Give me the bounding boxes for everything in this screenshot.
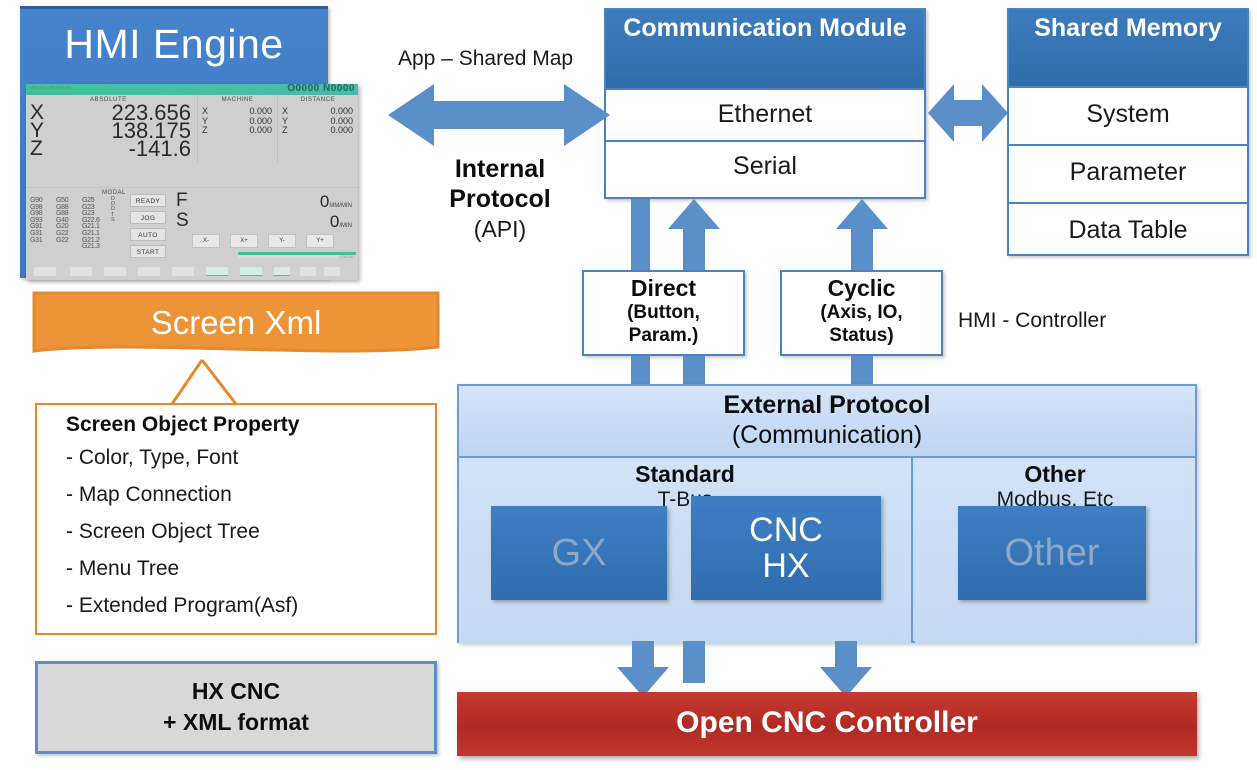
cnc-axis-letter: Z — [30, 140, 44, 158]
cnc-softkey-active[interactable] — [240, 267, 262, 276]
connector-arrow-direct-up — [668, 199, 720, 271]
cnc-distance-value: 0.000 — [330, 126, 353, 136]
mode-box-cyclic: Cyclic (Axis, IO, Status) — [780, 270, 943, 356]
comm-shared-memory-arrow — [928, 80, 1008, 146]
cnc-modal-code: G22 — [56, 238, 68, 245]
connector-bar-direct-lower — [631, 356, 650, 386]
cnc-mode-button-jog[interactable]: JOG — [130, 211, 166, 224]
label-internal-protocol: Internal Protocol (API) — [420, 154, 580, 244]
cnc-middle-divider — [26, 162, 358, 188]
cnc-modal-vertical-text: DDDTS — [111, 197, 115, 223]
cnc-mode-button-ready[interactable]: READY — [130, 194, 166, 207]
external-protocol-header: External Protocol (Communication) — [459, 386, 1195, 458]
cnc-softkey-active[interactable] — [274, 267, 290, 276]
cnc-mode-button-start[interactable]: START — [130, 245, 166, 258]
cnc-progress-caption: LOADING — [339, 255, 355, 259]
cnc-softkey[interactable] — [34, 267, 56, 276]
protocol-tile-gx[interactable]: GX — [491, 506, 667, 600]
mode-box-direct-title: Direct — [584, 275, 743, 301]
cnc-spindle-value: 0 — [330, 212, 339, 231]
cnc-lower-area: MODAL G90 G98 G98 G93 G91 G31 G31 G50 G8… — [26, 188, 358, 256]
cnc-absolute-axis-letters: X Y Z — [30, 104, 44, 158]
cnc-feed-value-row: 0MM/MIN — [320, 192, 352, 212]
communication-row-serial: Serial — [606, 140, 924, 192]
mode-box-direct-sub1: (Button, — [584, 301, 743, 324]
cnc-softkey-row — [26, 263, 358, 280]
cnc-machine-header: MACHINE — [198, 97, 277, 103]
shared-memory-row-parameter: Parameter — [1009, 144, 1247, 200]
cnc-feed-letter: F — [176, 190, 188, 211]
diagram-canvas: HMI Engine HMI CNC OPERATION O0000 N0000… — [0, 0, 1257, 770]
cnc-spindle-letter: S — [176, 210, 189, 231]
protocol-tile-cnc-hx[interactable]: CNC HX — [691, 496, 881, 600]
protocol-tile-cnc-hx-line1: CNC — [749, 512, 823, 548]
label-app-shared-map: App – Shared Map — [398, 47, 573, 71]
cnc-distance-header: DISTANCE — [278, 97, 358, 103]
cnc-jog-button-x-minus[interactable]: X- — [192, 234, 220, 248]
cnc-absolute-block: ABSOLUTE X Y Z 223.656 138.175 -141.6 — [26, 95, 198, 162]
cnc-screen-preview: HMI CNC OPERATION O0000 N0000 ABSOLUTE X… — [26, 84, 358, 280]
shared-memory-row-data-table: Data Table — [1009, 202, 1247, 258]
screen-object-property-callout: Screen Object Property - Color, Type, Fo… — [35, 403, 437, 635]
internal-protocol-line2: Protocol — [420, 184, 580, 214]
cnc-softkey[interactable] — [300, 267, 316, 276]
protocol-tile-gx-label: GX — [552, 532, 607, 575]
hx-cnc-xml-box: HX CNC + XML format — [35, 661, 437, 754]
cnc-modal-code: G21.3 — [82, 244, 100, 251]
cnc-modal-column: G50 G88 G88 G40 G20 G22 G22 — [56, 198, 68, 244]
mode-box-direct-sub2: Param.) — [584, 324, 743, 347]
mode-box-cyclic-sub1: (Axis, IO, — [782, 301, 941, 324]
connector-arrow-controller-left-down — [617, 641, 669, 697]
communication-module-header: Communication Module — [606, 10, 924, 88]
connector-bar-direct-up-lower — [683, 356, 705, 386]
shared-memory-header: Shared Memory — [1009, 10, 1247, 86]
connector-arrow-controller-right-down — [820, 641, 872, 697]
cnc-distance-block: DISTANCE X Y Z 0.000 0.000 0.000 — [278, 95, 358, 162]
callout-title: Screen Object Property — [66, 413, 299, 437]
cnc-distance-values: 0.000 0.000 0.000 — [330, 107, 353, 136]
cnc-axis-letter: Z — [202, 126, 208, 136]
cnc-progress-bar: LOADING — [238, 252, 356, 258]
cnc-softkey[interactable] — [104, 267, 126, 276]
protocol-tile-other-label: Other — [1004, 532, 1099, 575]
protocol-tile-cnc-hx-line2: HX — [749, 548, 823, 584]
connector-bar-direct-down — [631, 199, 650, 271]
cnc-status-bar: HMI CNC OPERATION O0000 N0000 — [26, 84, 358, 95]
cnc-program-number: O0000 N0000 — [287, 84, 355, 94]
cnc-softkey[interactable] — [324, 267, 340, 276]
hmi-engine-title: HMI Engine — [20, 21, 328, 68]
callout-item: - Map Connection — [66, 483, 232, 507]
cnc-modal-column: G90 G98 G98 G93 G91 G31 G31 — [30, 198, 42, 244]
callout-item: - Extended Program(Asf) — [66, 594, 298, 618]
cnc-softkey[interactable] — [138, 267, 160, 276]
cnc-feed-unit: MM/MIN — [329, 203, 352, 209]
connector-bar-controller-middle — [683, 641, 705, 683]
cnc-modal-column: G25 G23 G23 G22.6 G21.1 G21.1 G21.2 G21.… — [82, 198, 100, 251]
cnc-feed-value: 0 — [320, 192, 329, 211]
callout-item: - Screen Object Tree — [66, 520, 260, 544]
internal-protocol-line3: (API) — [420, 214, 580, 244]
cnc-mode-button-auto[interactable]: AUTO — [130, 228, 166, 241]
cnc-softkey[interactable] — [70, 267, 92, 276]
external-protocol-header-line1: External Protocol — [459, 390, 1195, 420]
other-title: Other — [915, 461, 1195, 487]
internal-protocol-arrow — [388, 78, 610, 152]
cnc-spindle-row: S — [176, 210, 189, 232]
cnc-absolute-values: 223.656 138.175 -141.6 — [111, 104, 191, 158]
callout-item: - Color, Type, Font — [66, 446, 238, 470]
external-protocol-panel: External Protocol (Communication) Standa… — [457, 384, 1197, 643]
cnc-feed-row: F — [176, 190, 188, 212]
mode-box-cyclic-sub2: Status) — [782, 324, 941, 347]
hx-cnc-line1: HX CNC — [38, 678, 434, 705]
connector-arrow-cyclic-up — [836, 199, 888, 271]
shared-memory-row-system: System — [1009, 86, 1247, 142]
cnc-machine-block: MACHINE X Y Z 0.000 0.000 0.000 — [198, 95, 278, 162]
mode-box-cyclic-title: Cyclic — [782, 275, 941, 301]
connector-bar-cyclic-lower — [851, 356, 873, 386]
communication-module: Communication Module Ethernet Serial — [604, 8, 926, 199]
cnc-machine-value: 0.000 — [249, 126, 272, 136]
cnc-spindle-unit: /MIN — [339, 223, 352, 229]
label-hmi-controller: HMI - Controller — [958, 309, 1106, 333]
protocol-tile-other[interactable]: Other — [958, 506, 1146, 600]
hx-cnc-line2: + XML format — [38, 709, 434, 736]
cnc-axis-letter: Z — [282, 126, 288, 136]
cnc-jog-button-x-plus[interactable]: X+ — [230, 234, 258, 248]
cnc-softkey[interactable] — [172, 267, 194, 276]
standard-title: Standard — [459, 461, 911, 487]
shared-memory-panel: Shared Memory System Parameter Data Tabl… — [1007, 8, 1249, 256]
protocol-tile-cnc-hx-label: CNC HX — [749, 512, 823, 584]
internal-protocol-line1: Internal — [420, 154, 580, 184]
cnc-jog-button-y-minus[interactable]: Y- — [268, 234, 296, 248]
open-cnc-controller-bar: Open CNC Controller — [457, 692, 1197, 756]
cnc-modal-code: G31 — [30, 238, 42, 245]
cnc-corner-text: HMI CNC OPERATION — [29, 85, 70, 90]
cnc-spindle-value-row: 0/MIN — [330, 212, 352, 232]
cnc-machine-values: 0.000 0.000 0.000 — [249, 107, 272, 136]
mode-box-direct: Direct (Button, Param.) — [582, 270, 745, 356]
external-protocol-header-line2: (Communication) — [459, 420, 1195, 450]
callout-item: - Menu Tree — [66, 557, 179, 581]
cnc-machine-axes: X Y Z — [202, 107, 208, 136]
cnc-jog-button-y-plus[interactable]: Y+ — [306, 234, 334, 248]
cnc-position-area: ABSOLUTE X Y Z 223.656 138.175 -141.6 MA… — [26, 95, 358, 162]
callout-leader — [32, 348, 452, 410]
screen-xml-title: Screen Xml — [151, 304, 322, 341]
communication-row-ethernet: Ethernet — [606, 88, 924, 140]
cnc-softkey-active[interactable] — [206, 267, 228, 276]
cnc-distance-axes: X Y Z — [282, 107, 288, 136]
